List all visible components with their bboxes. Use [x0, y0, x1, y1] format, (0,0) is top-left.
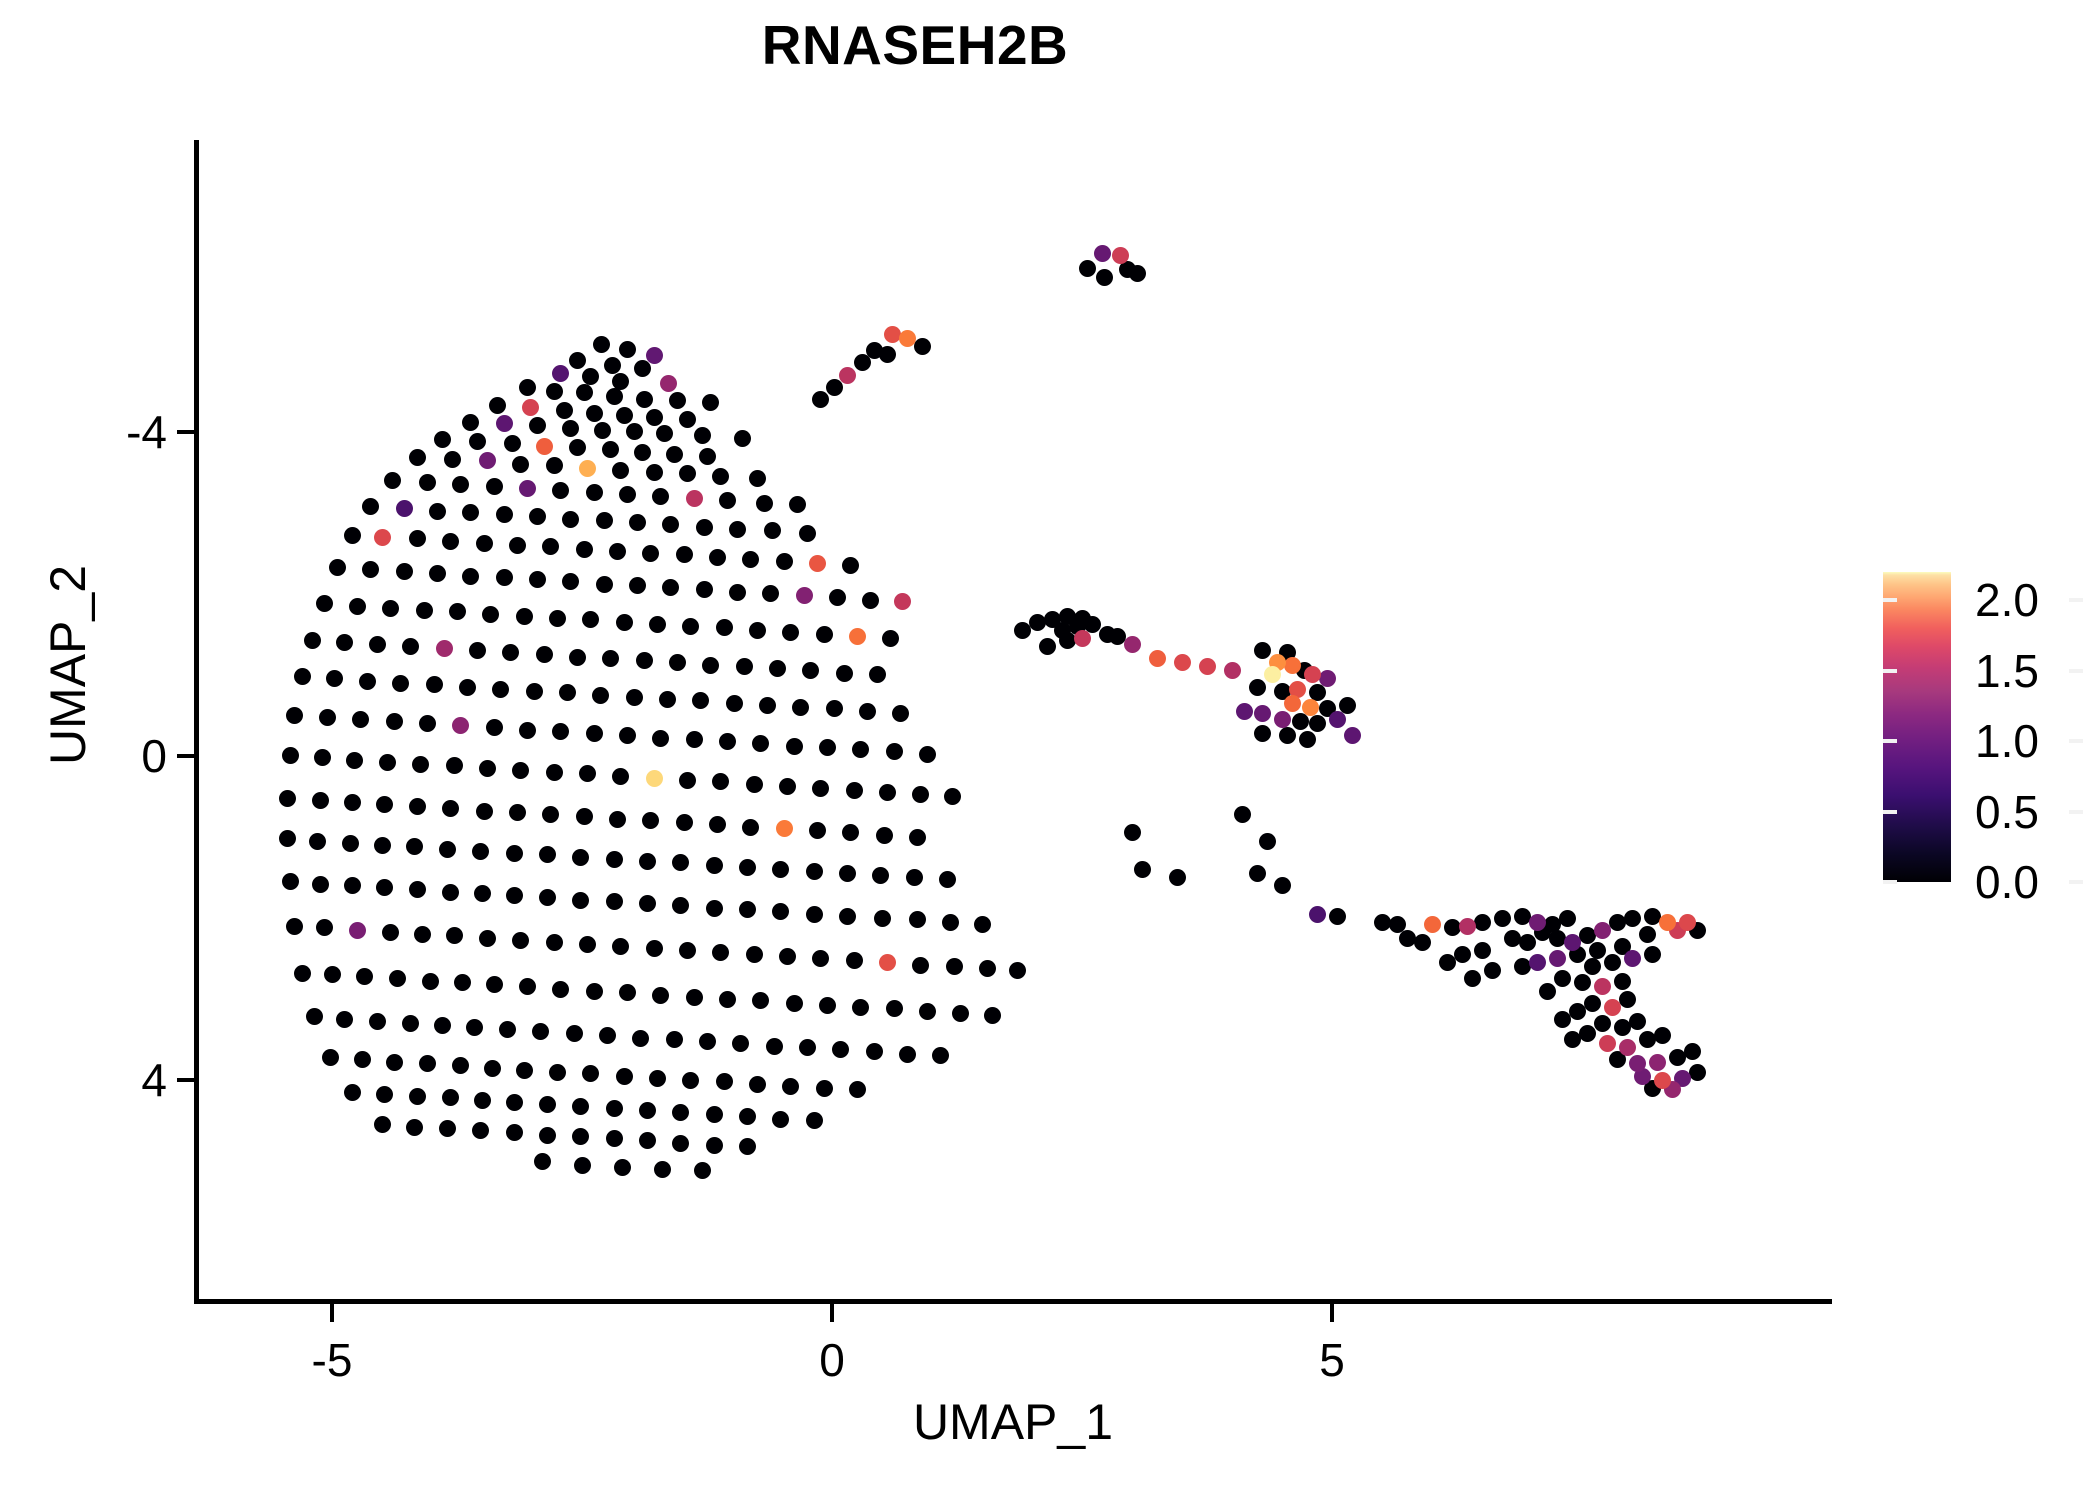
- page-title: RNASEH2B: [0, 18, 1830, 73]
- scatter-point: [909, 911, 926, 928]
- scatter-point: [846, 782, 863, 799]
- scatter-point: [602, 441, 619, 458]
- scatter-point: [752, 735, 769, 752]
- scatter-point: [816, 626, 833, 643]
- scatter-point: [862, 592, 879, 609]
- scatter-point: [1174, 654, 1191, 671]
- scatter-point: [579, 765, 596, 782]
- scatter-point: [746, 946, 763, 963]
- scatter-point: [842, 557, 859, 574]
- scatter-point: [606, 1130, 623, 1147]
- scatter-point: [439, 841, 456, 858]
- scatter-point: [1474, 942, 1491, 959]
- scatter-point: [1669, 1049, 1686, 1066]
- scatter-point: [376, 879, 393, 896]
- scatter-point: [654, 1161, 671, 1178]
- scatter-point: [749, 1076, 766, 1093]
- scatter-point: [696, 519, 713, 536]
- scatter-point: [776, 820, 793, 837]
- scatter-point: [454, 974, 471, 991]
- scatter-point: [374, 529, 391, 546]
- scatter-point: [706, 1106, 723, 1123]
- scatter-point: [872, 867, 889, 884]
- scatter-point: [852, 999, 869, 1016]
- colorbar-tick-label: 2.0: [1975, 577, 2039, 623]
- scatter-point: [362, 498, 379, 515]
- colorbar-tick-mark: [1883, 669, 1897, 673]
- scatter-point: [826, 700, 843, 717]
- scatter-point: [1644, 946, 1661, 963]
- scatter-point: [676, 546, 693, 563]
- scatter-point: [1639, 1031, 1656, 1048]
- scatter-point: [1494, 910, 1511, 927]
- scatter-point: [1374, 914, 1391, 931]
- scatter-point: [629, 514, 646, 531]
- scatter-point: [854, 354, 871, 371]
- scatter-point: [539, 846, 556, 863]
- scatter-point: [534, 1153, 551, 1170]
- scatter-point: [484, 1060, 501, 1077]
- scatter-point: [606, 1100, 623, 1117]
- scatter-point: [496, 569, 513, 586]
- scatter-point: [519, 722, 536, 739]
- scatter-point: [506, 845, 523, 862]
- scatter-point: [1629, 1013, 1646, 1030]
- scatter-point: [1624, 950, 1641, 967]
- scatter-point: [572, 1128, 589, 1145]
- scatter-point: [809, 555, 826, 572]
- scatter-point: [899, 330, 916, 347]
- scatter-point: [909, 829, 926, 846]
- scatter-point: [732, 1035, 749, 1052]
- scatter-point: [609, 543, 626, 560]
- scatter-point: [979, 960, 996, 977]
- scatter-point: [1484, 962, 1501, 979]
- scatter-point: [706, 857, 723, 874]
- scatter-point: [642, 812, 659, 829]
- scatter-point: [1584, 958, 1601, 975]
- scatter-point: [942, 914, 959, 931]
- scatter-point: [376, 796, 393, 813]
- scatter-point: [382, 600, 399, 617]
- scatter-point: [606, 851, 623, 868]
- scatter-point: [474, 1092, 491, 1109]
- scatter-point: [652, 488, 669, 505]
- scatter-point: [586, 405, 603, 422]
- scatter-point: [384, 472, 401, 489]
- scatter-point: [409, 798, 426, 815]
- scatter-point: [596, 576, 613, 593]
- scatter-point: [672, 854, 689, 871]
- scatter-point: [1579, 1025, 1596, 1042]
- scatter-point: [582, 368, 599, 385]
- scatter-point: [426, 676, 443, 693]
- scatter-point: [884, 326, 901, 343]
- scatter-point: [639, 1102, 656, 1119]
- scatter-point: [709, 816, 726, 833]
- umap-feature-plot: RNASEH2B 40-4-505 UMAP_1 UMAP_2 0.00.51.…: [0, 0, 2100, 1500]
- scatter-point: [546, 764, 563, 781]
- scatter-point: [429, 503, 446, 520]
- scatter-point: [546, 457, 563, 474]
- scatter-point: [859, 703, 876, 720]
- scatter-point: [662, 516, 679, 533]
- scatter-point: [749, 470, 766, 487]
- scatter-point: [952, 1005, 969, 1022]
- scatter-point: [1504, 930, 1521, 947]
- scatter-point: [772, 1111, 789, 1128]
- scatter-point: [576, 384, 593, 401]
- scatter-point: [286, 918, 303, 935]
- scatter-point: [874, 910, 891, 927]
- scatter-point: [734, 430, 751, 447]
- scatter-point: [782, 624, 799, 641]
- scatter-point: [406, 1119, 423, 1136]
- scatter-point: [944, 788, 961, 805]
- scatter-point: [772, 861, 789, 878]
- scatter-point: [1302, 699, 1319, 716]
- scatter-point: [579, 460, 596, 477]
- scatter-point: [709, 549, 726, 566]
- scatter-point: [282, 873, 299, 890]
- scatter-point: [632, 1030, 649, 1047]
- scatter-point: [812, 950, 829, 967]
- scatter-point: [409, 530, 426, 547]
- scatter-point: [1009, 962, 1026, 979]
- scatter-point: [592, 687, 609, 704]
- scatter-point: [1454, 946, 1471, 963]
- scatter-point: [569, 352, 586, 369]
- scatter-point: [402, 638, 419, 655]
- scatter-point: [1299, 731, 1316, 748]
- scatter-point: [1234, 806, 1251, 823]
- scatter-point: [1549, 930, 1566, 947]
- y-tick-mark: [177, 430, 194, 434]
- scatter-point: [1224, 662, 1241, 679]
- scatter-point: [1039, 638, 1056, 655]
- scatter-point: [279, 830, 296, 847]
- x-tick-label: 5: [1252, 1337, 1412, 1383]
- scatter-point: [1236, 703, 1253, 720]
- scatter-point: [316, 595, 333, 612]
- scatter-point: [429, 565, 446, 582]
- scatter-point: [419, 474, 436, 491]
- scatter-point: [1529, 954, 1546, 971]
- scatter-point: [786, 738, 803, 755]
- scatter-point: [974, 916, 991, 933]
- colorbar-tick-label: 1.5: [1975, 648, 2039, 694]
- colorbar-tick-mark: [2069, 739, 2083, 743]
- scatter-point: [739, 1108, 756, 1125]
- scatter-point: [639, 1132, 656, 1149]
- scatter-point: [539, 1096, 556, 1113]
- scatter-point: [1549, 950, 1566, 967]
- scatter-point: [1539, 983, 1556, 1000]
- scatter-point: [879, 346, 896, 363]
- scatter-point: [516, 608, 533, 625]
- scatter-point: [1589, 942, 1606, 959]
- scatter-point: [569, 439, 586, 456]
- scatter-point: [1514, 958, 1531, 975]
- scatter-point: [616, 1068, 633, 1085]
- scatter-point: [419, 715, 436, 732]
- scatter-point: [509, 804, 526, 821]
- scatter-point: [816, 1080, 833, 1097]
- scatter-point: [749, 622, 766, 639]
- scatter-point: [489, 397, 506, 414]
- scatter-point: [479, 930, 496, 947]
- scatter-point: [492, 681, 509, 698]
- scatter-point: [1344, 727, 1361, 744]
- scatter-point: [619, 727, 636, 744]
- scatter-point: [762, 585, 779, 602]
- scatter-point: [669, 392, 686, 409]
- scatter-point: [502, 644, 519, 661]
- scatter-point: [374, 837, 391, 854]
- scatter-point: [549, 1064, 566, 1081]
- scatter-point: [532, 1023, 549, 1040]
- scatter-point: [819, 739, 836, 756]
- scatter-point: [552, 365, 569, 382]
- scatter-point: [752, 992, 769, 1009]
- scatter-point: [434, 431, 451, 448]
- scatter-point: [306, 1008, 323, 1025]
- scatter-point: [499, 1021, 516, 1038]
- scatter-point: [1029, 614, 1046, 631]
- scatter-point: [369, 636, 386, 653]
- scatter-point: [606, 893, 623, 910]
- scatter-point: [766, 1038, 783, 1055]
- y-tick-label: 4: [47, 1057, 167, 1103]
- scatter-point: [712, 944, 729, 961]
- scatter-point: [279, 790, 296, 807]
- scatter-point: [1112, 247, 1129, 264]
- scatter-point: [512, 932, 529, 949]
- scatter-point: [324, 966, 341, 983]
- scatter-point: [512, 456, 529, 473]
- scatter-point: [472, 1122, 489, 1139]
- scatter-point: [879, 784, 896, 801]
- scatter-point: [286, 707, 303, 724]
- scatter-point: [1619, 991, 1636, 1008]
- scatter-point: [1259, 833, 1276, 850]
- scatter-point: [652, 730, 669, 747]
- scatter-point: [476, 535, 493, 552]
- scatter-point: [614, 1159, 631, 1176]
- scatter-point: [886, 1000, 903, 1017]
- y-axis-title: UMAP_2: [43, 315, 93, 1015]
- scatter-point: [1639, 926, 1656, 943]
- scatter-point: [1414, 934, 1431, 951]
- scatter-point: [496, 506, 513, 523]
- scatter-point: [676, 814, 693, 831]
- scatter-point: [759, 697, 776, 714]
- scatter-point: [802, 662, 819, 679]
- scatter-point: [1096, 269, 1113, 286]
- scatter-point: [1629, 1055, 1646, 1072]
- scatter-point: [342, 835, 359, 852]
- scatter-point: [649, 1070, 666, 1087]
- scatter-point: [422, 973, 439, 990]
- scatter-point: [479, 760, 496, 777]
- scatter-point: [686, 490, 703, 507]
- scatter-point: [839, 865, 856, 882]
- scatter-point: [414, 926, 431, 943]
- scatter-point: [719, 492, 736, 509]
- scatter-point: [679, 772, 696, 789]
- scatter-point: [376, 1086, 393, 1103]
- scatter-point: [1109, 628, 1126, 645]
- scatter-point: [712, 468, 729, 485]
- x-tick-label: -5: [252, 1337, 412, 1383]
- y-tick-mark: [177, 1078, 194, 1082]
- scatter-point: [669, 654, 686, 671]
- scatter-point: [612, 938, 629, 955]
- scatter-point: [1514, 908, 1531, 925]
- scatter-point: [556, 402, 573, 419]
- scatter-point: [409, 1088, 426, 1105]
- scatter-point: [604, 357, 621, 374]
- scatter-point: [1149, 650, 1166, 667]
- scatter-point: [1134, 861, 1151, 878]
- scatter-point: [446, 757, 463, 774]
- scatter-point: [529, 508, 546, 525]
- scatter-point: [566, 1025, 583, 1042]
- colorbar-tick-mark: [2069, 810, 2083, 814]
- scatter-point: [506, 1094, 523, 1111]
- y-axis-line: [194, 140, 199, 1304]
- scatter-point: [719, 991, 736, 1008]
- scatter-point: [1439, 954, 1456, 971]
- scatter-point: [666, 1031, 683, 1048]
- scatter-point: [1254, 725, 1271, 742]
- scatter-point: [474, 885, 491, 902]
- scatter-point: [1309, 715, 1326, 732]
- scatter-point: [1604, 999, 1621, 1016]
- scatter-point: [842, 824, 859, 841]
- scatter-point: [1309, 906, 1326, 923]
- scatter-point: [716, 1073, 733, 1090]
- scatter-point: [706, 1137, 723, 1154]
- scatter-point: [1249, 679, 1266, 696]
- x-tick-mark: [830, 1304, 834, 1322]
- scatter-point: [1459, 918, 1476, 935]
- scatter-point: [282, 747, 299, 764]
- x-tick-mark: [1330, 1304, 1334, 1322]
- scatter-point: [1614, 973, 1631, 990]
- scatter-point: [646, 770, 663, 787]
- scatter-point: [849, 1081, 866, 1098]
- scatter-point: [319, 709, 336, 726]
- scatter-point: [839, 908, 856, 925]
- scatter-point: [869, 666, 886, 683]
- scatter-point: [756, 495, 773, 512]
- scatter-point: [354, 1051, 371, 1068]
- scatter-point: [519, 480, 536, 497]
- scatter-point: [659, 691, 676, 708]
- scatter-point: [1559, 910, 1576, 927]
- scatter-point: [666, 446, 683, 463]
- scatter-point: [574, 1157, 591, 1174]
- scatter-point: [672, 1135, 689, 1152]
- scatter-point: [1329, 908, 1346, 925]
- scatter-point: [786, 995, 803, 1012]
- x-tick-label: 0: [752, 1337, 912, 1383]
- scatter-point: [1284, 657, 1301, 674]
- scatter-point: [462, 568, 479, 585]
- scatter-point: [729, 584, 746, 601]
- scatter-point: [782, 1078, 799, 1095]
- scatter-point: [694, 427, 711, 444]
- scatter-point: [436, 640, 453, 657]
- scatter-point: [1574, 974, 1591, 991]
- scatter-point: [572, 892, 589, 909]
- scatter-point: [546, 383, 563, 400]
- scatter-point: [349, 598, 366, 615]
- scatter-point: [912, 957, 929, 974]
- scatter-point: [1274, 711, 1291, 728]
- colorbar-tick-label: 0.0: [1975, 859, 2039, 905]
- scatter-point: [486, 976, 503, 993]
- scatter-point: [389, 970, 406, 987]
- scatter-point: [1599, 1035, 1616, 1052]
- scatter-point: [702, 657, 719, 674]
- scatter-point: [729, 521, 746, 538]
- scatter-point: [469, 433, 486, 450]
- scatter-point: [626, 689, 643, 706]
- scatter-point: [1274, 877, 1291, 894]
- scatter-point: [1249, 865, 1266, 882]
- scatter-point: [719, 733, 736, 750]
- colorbar-gradient: [1883, 572, 1951, 882]
- scatter-point: [739, 901, 756, 918]
- scatter-point: [562, 420, 579, 437]
- scatter-point: [549, 610, 566, 627]
- scatter-point: [1399, 930, 1416, 947]
- scatter-point: [519, 978, 536, 995]
- scatter-point: [914, 338, 931, 355]
- scatter-point: [344, 877, 361, 894]
- scatter-point: [536, 646, 553, 663]
- scatter-point: [522, 399, 539, 416]
- scatter-point: [812, 391, 829, 408]
- scatter-point: [579, 936, 596, 953]
- scatter-point: [312, 792, 329, 809]
- scatter-point: [572, 849, 589, 866]
- scatter-point: [552, 981, 569, 998]
- scatter-point: [444, 451, 461, 468]
- scatter-point: [462, 414, 479, 431]
- scatter-point: [646, 940, 663, 957]
- scatter-point: [639, 853, 656, 870]
- scatter-point: [1124, 824, 1141, 841]
- scatter-point: [396, 563, 413, 580]
- x-tick-mark: [330, 1304, 334, 1322]
- scatter-point: [582, 1065, 599, 1082]
- scatter-point: [716, 619, 733, 636]
- scatter-point: [662, 579, 679, 596]
- scatter-point: [594, 422, 611, 439]
- scatter-point: [616, 407, 633, 424]
- scatter-point: [569, 649, 586, 666]
- scatter-point: [472, 843, 489, 860]
- scatter-point: [682, 1072, 699, 1089]
- scatter-point: [692, 692, 709, 709]
- scatter-point: [539, 889, 556, 906]
- scatter-point: [779, 948, 796, 965]
- scatter-point: [1279, 727, 1296, 744]
- colorbar-tick-mark: [1883, 810, 1897, 814]
